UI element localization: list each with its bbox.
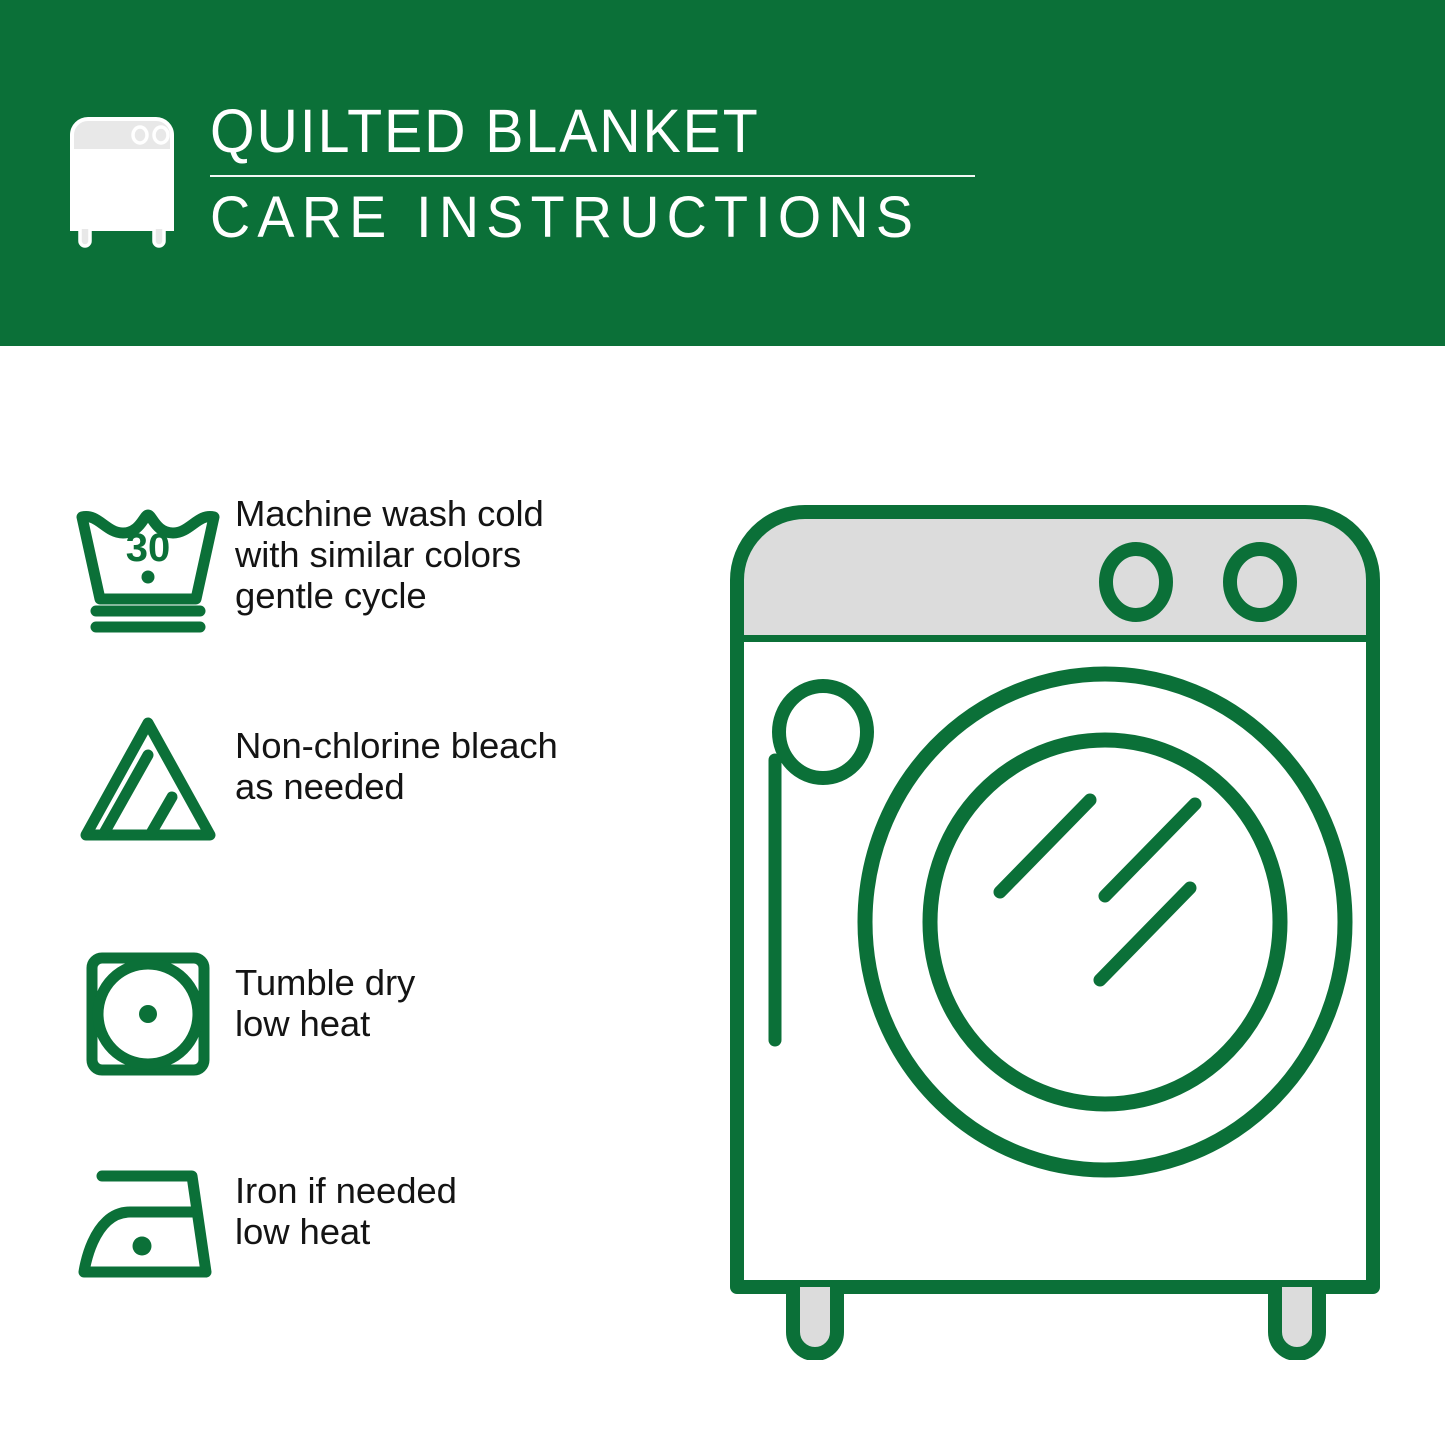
leg-left — [793, 1287, 837, 1354]
title-divider — [210, 175, 975, 177]
care-label: Non-chlorine bleach as needed — [235, 701, 680, 807]
care-label: Machine wash cold with similar colors ge… — [235, 491, 680, 616]
tumble-dry-low-heat-icon — [60, 936, 235, 1091]
header-titles: QUILTED BLANKET CARE INSTRUCTIONS — [210, 95, 1002, 251]
care-label-line: gentle cycle — [235, 575, 680, 616]
care-label-line: Tumble dry — [235, 962, 680, 1003]
care-label-line: low heat — [235, 1211, 680, 1252]
care-label-line: with similar colors — [235, 534, 680, 575]
page-title: QUILTED BLANKET — [210, 97, 954, 165]
care-label-line: Non-chlorine bleach — [235, 725, 680, 766]
care-instructions-page: QUILTED BLANKET CARE INSTRUCTIONS 30 — [0, 0, 1445, 1445]
care-instruction-list: 30 Machine wash cold with similar colors… — [0, 346, 700, 1445]
header-band: QUILTED BLANKET CARE INSTRUCTIONS — [0, 0, 1445, 346]
care-label-line: as needed — [235, 766, 680, 807]
care-label: Tumble dry low heat — [235, 936, 680, 1044]
washing-machine-illustration — [715, 470, 1395, 1360]
care-label-line: Machine wash cold — [235, 493, 680, 534]
iron-low-heat-icon — [60, 1146, 235, 1301]
non-chlorine-bleach-triangle-icon — [60, 701, 235, 856]
care-label-line: Iron if needed — [235, 1170, 680, 1211]
care-row: Iron if needed low heat — [60, 1146, 680, 1301]
care-label: Iron if needed low heat — [235, 1146, 680, 1252]
care-row: Tumble dry low heat — [60, 936, 680, 1091]
page-subtitle: CARE INSTRUCTIONS — [210, 185, 970, 251]
control-panel — [737, 512, 1373, 642]
wash-temperature-value: 30 — [125, 526, 170, 570]
care-row: Non-chlorine bleach as needed — [60, 701, 680, 856]
care-label-line: low heat — [235, 1003, 680, 1044]
header-content: QUILTED BLANKET CARE INSTRUCTIONS — [62, 95, 1002, 265]
wash-tub-30-gentle-icon: 30 — [60, 491, 235, 646]
washing-machine-icon — [62, 101, 182, 251]
leg-right — [1275, 1287, 1319, 1354]
care-row: 30 Machine wash cold with similar colors… — [60, 491, 680, 646]
